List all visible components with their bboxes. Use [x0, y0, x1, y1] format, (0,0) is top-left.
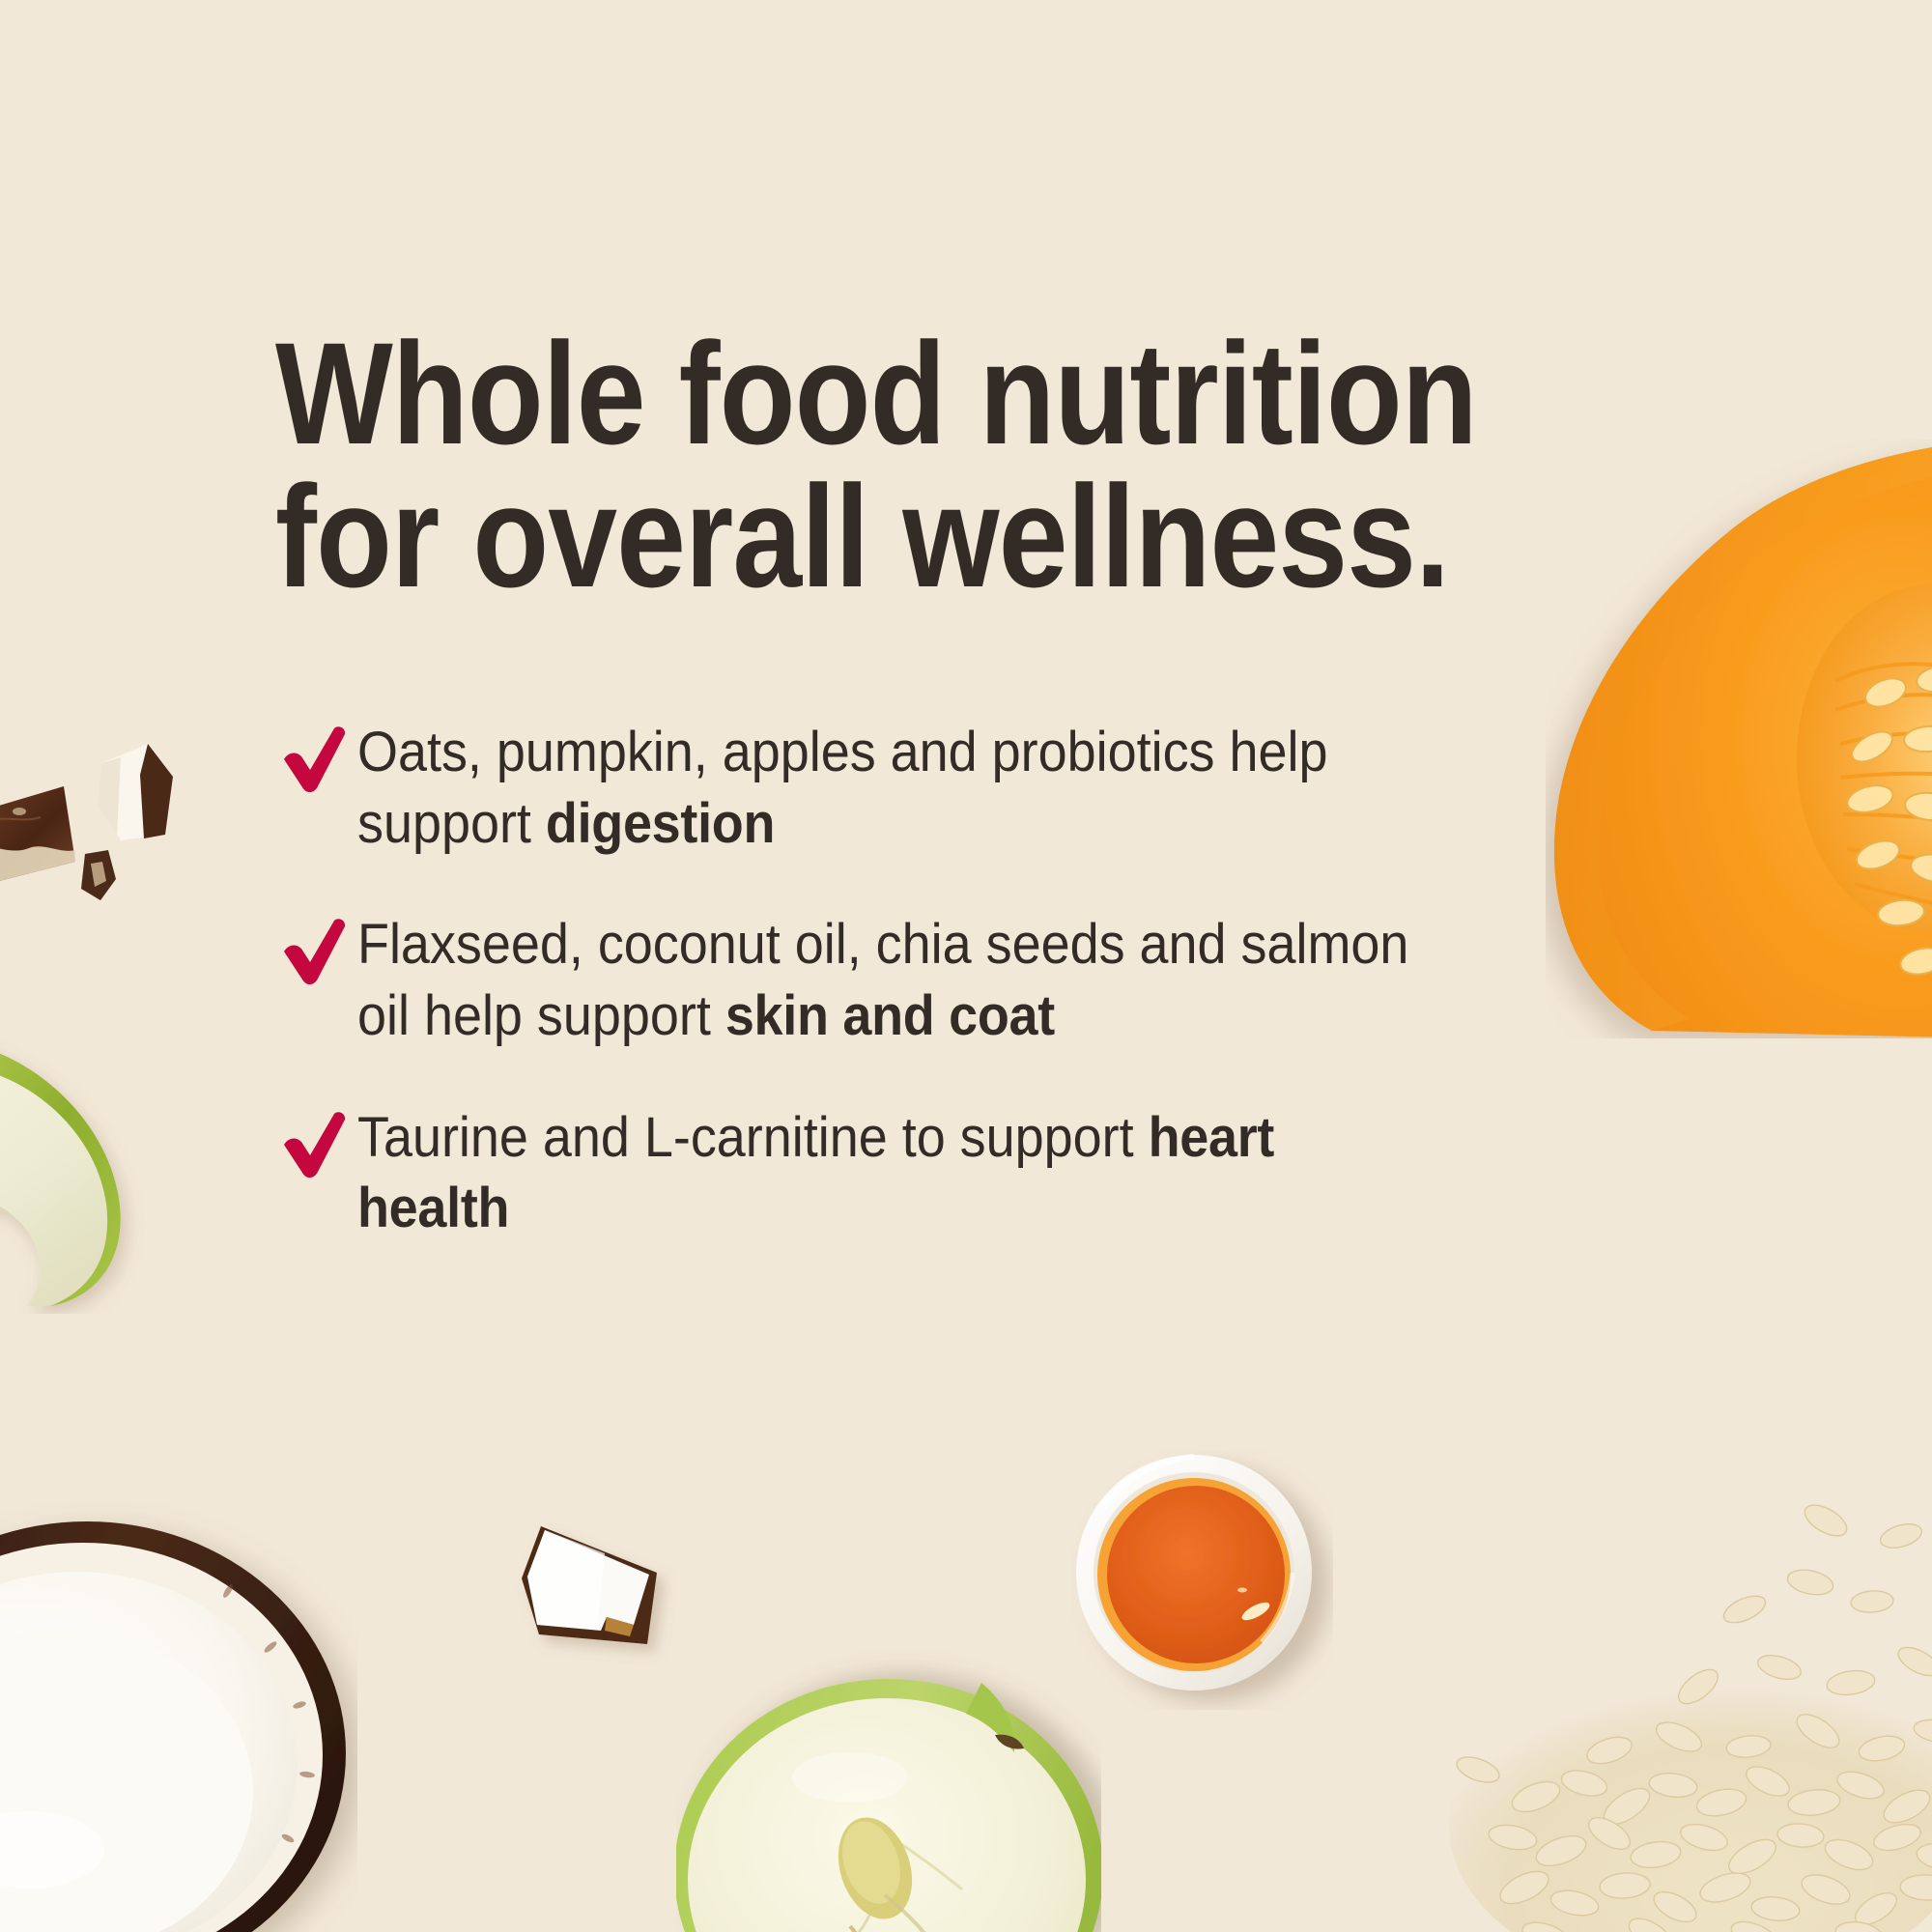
rolled-oats-pile-image — [1420, 1478, 1932, 1932]
check-icon — [278, 726, 352, 794]
oats-svg — [1420, 1478, 1932, 1932]
coconut-chunk-image — [512, 1517, 686, 1671]
check-icon — [278, 919, 352, 986]
coconut-shard-large-image — [0, 773, 82, 889]
list-item-text-emphasis: digestion — [546, 792, 775, 855]
list-item-text-emphasis: skin and coat — [725, 984, 1055, 1047]
coconut-shard-white-image — [92, 742, 179, 848]
apple-slice-svg — [0, 1024, 166, 1314]
coconut-chunk-svg — [512, 1517, 686, 1671]
list-item-text: Flaxseed, coconut oil, chia seeds and sa… — [357, 909, 1434, 1051]
coconut-shard-c-svg — [77, 850, 118, 904]
list-item: Flaxseed, coconut oil, chia seeds and sa… — [278, 909, 1515, 1051]
promo-canvas: Whole food nutrition for overall wellnes… — [0, 0, 1932, 1932]
benefits-list: Oats, pumpkin, apples and probiotics hel… — [278, 717, 1515, 1294]
check-icon — [278, 1112, 352, 1179]
pumpkin-half-image — [1546, 440, 1932, 1038]
oil-bowl-svg — [1072, 1449, 1333, 1710]
list-item: Oats, pumpkin, apples and probiotics hel… — [278, 717, 1515, 859]
apple-half-svg — [676, 1633, 1101, 1932]
list-item-text: Taurine and L-carnitine to support heart… — [357, 1102, 1434, 1244]
list-item-text-normal: Taurine and L-carnitine to support — [357, 1106, 1149, 1169]
page-headline: Whole food nutrition for overall wellnes… — [275, 322, 1489, 609]
coconut-half-svg — [0, 1502, 357, 1932]
list-item-text-normal: Oats, pumpkin, apples and probiotics hel… — [357, 721, 1327, 855]
pumpkin-svg — [1546, 440, 1932, 1038]
coconut-shard-small-image — [77, 850, 118, 904]
coconut-half-image — [0, 1502, 357, 1932]
list-item: Taurine and L-carnitine to support heart… — [278, 1102, 1515, 1244]
list-item-text: Oats, pumpkin, apples and probiotics hel… — [357, 717, 1434, 859]
salmon-oil-bowl-image — [1072, 1449, 1333, 1710]
coconut-shard-a-svg — [0, 773, 82, 889]
green-apple-slice-image — [0, 1024, 166, 1314]
green-apple-half-image — [676, 1633, 1101, 1932]
coconut-shard-b-svg — [92, 742, 179, 848]
